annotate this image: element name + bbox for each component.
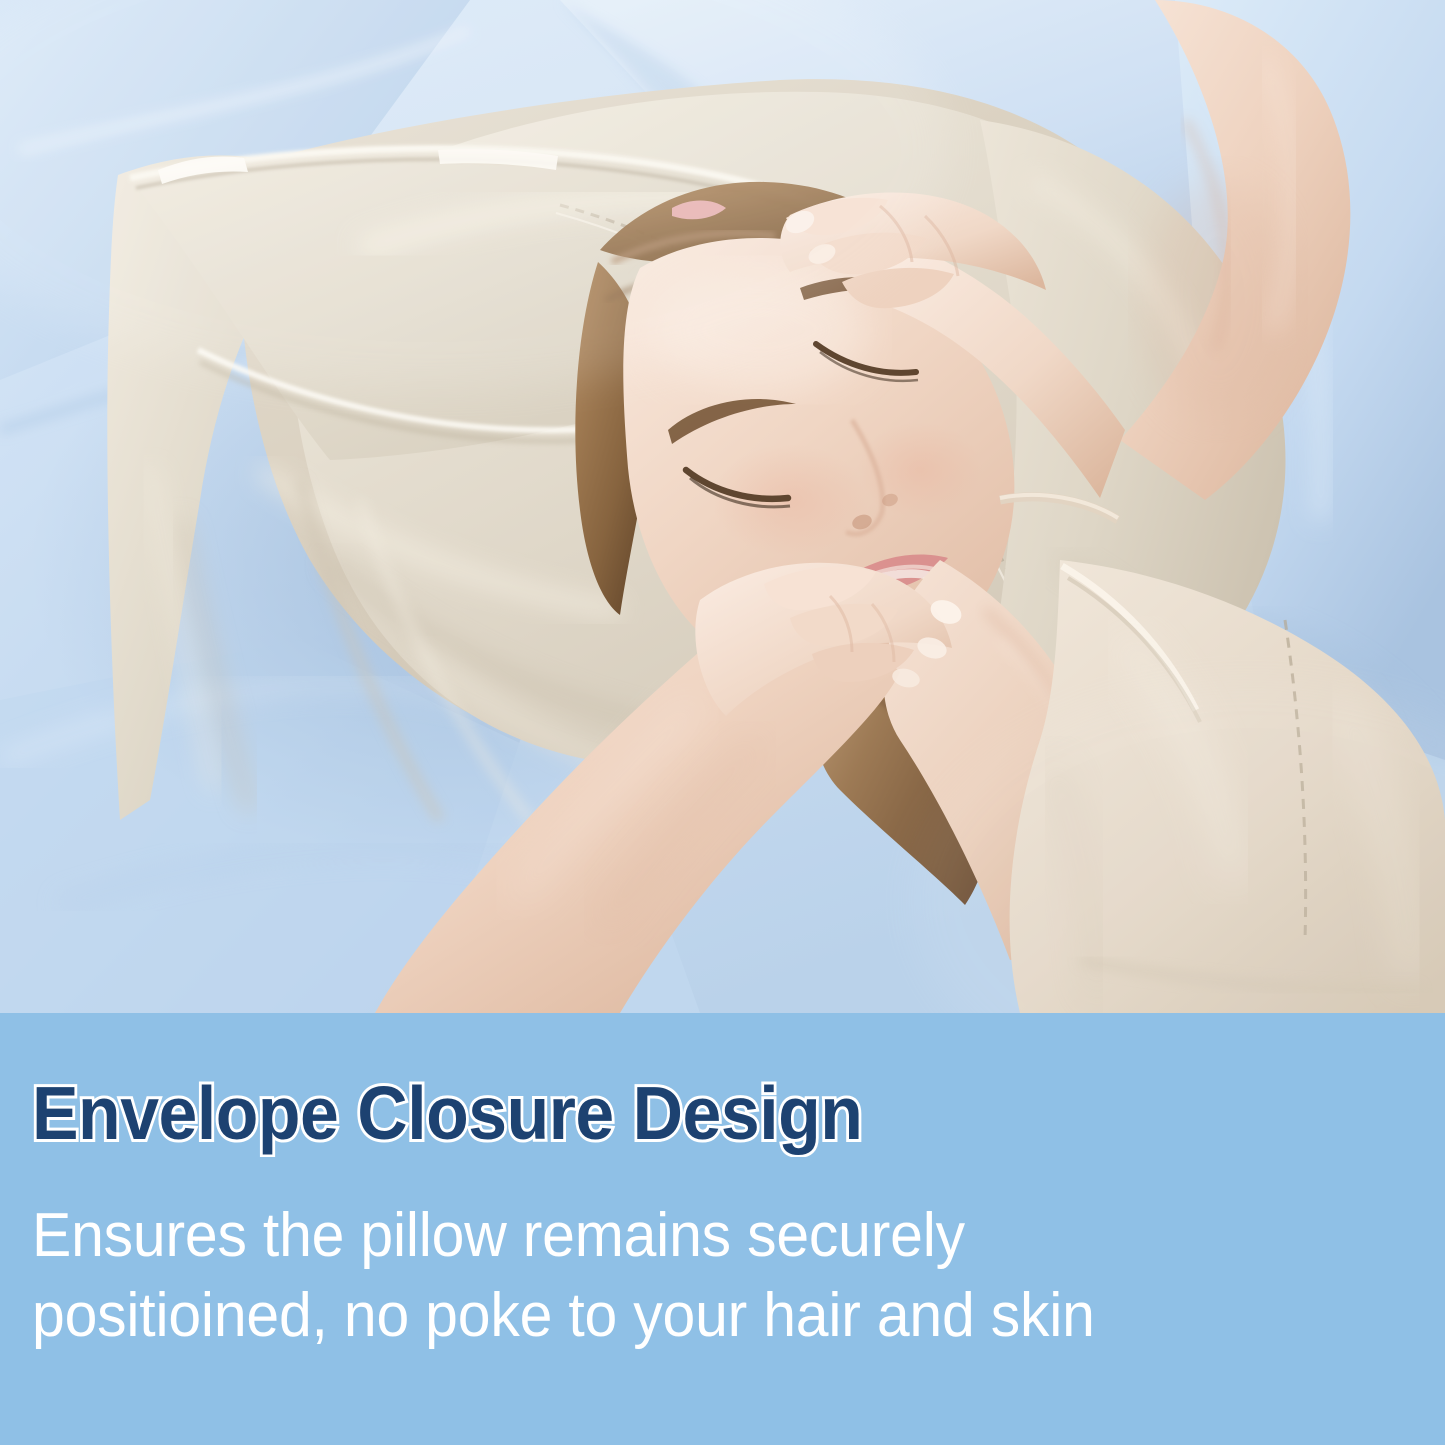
subtitle-line-1: Ensures the pillow remains securely xyxy=(32,1196,1296,1276)
photo-illustration xyxy=(0,0,1445,1013)
marketing-image: Envelope Closure Design Ensures the pill… xyxy=(0,0,1445,1445)
subtitle-line-2: positioined, no poke to your hair and sk… xyxy=(32,1276,1296,1356)
headline-envelope-closure-design: Envelope Closure Design xyxy=(32,1070,1278,1156)
subtitle-block: Ensures the pillow remains securely posi… xyxy=(32,1196,1296,1356)
lifestyle-photo xyxy=(0,0,1445,1013)
